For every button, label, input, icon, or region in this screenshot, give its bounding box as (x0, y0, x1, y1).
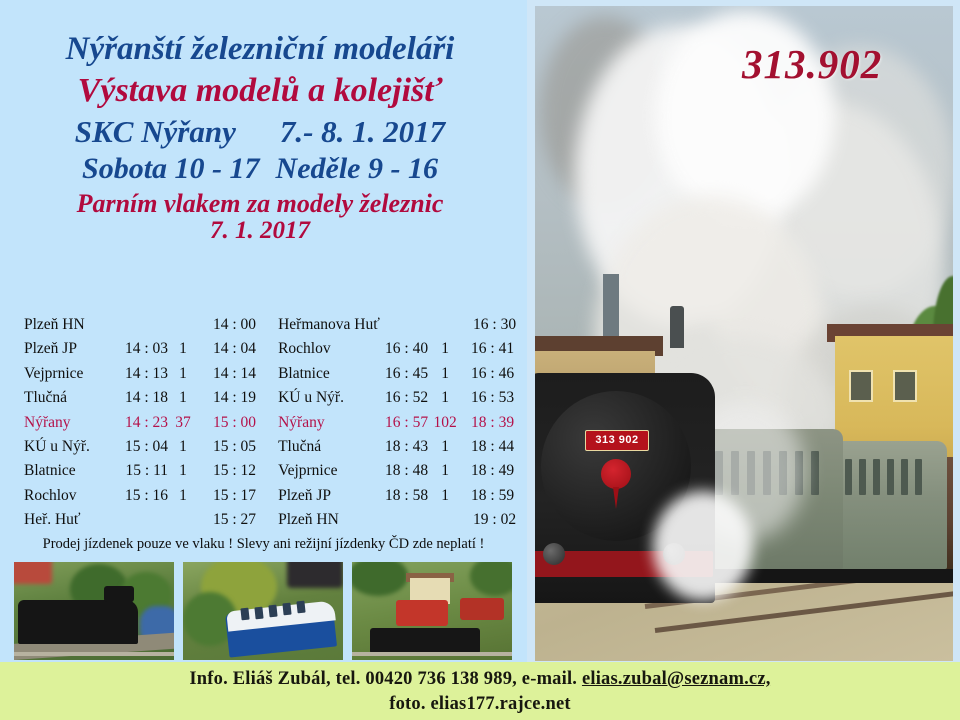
departure-time: 16 : 53 (462, 389, 514, 407)
station-name: Nýřany (24, 414, 110, 432)
arrival-time: 15 : 16 (110, 487, 168, 505)
departure-time: 19 : 02 (374, 511, 516, 529)
station-name: Nýřany (278, 414, 374, 432)
arrival-time: 15 : 11 (110, 462, 168, 480)
timetable-row: Rochlov16 : 40116 : 41 (278, 340, 527, 364)
stop-minutes: 1 (168, 365, 198, 383)
departure-time: 18 : 49 (462, 462, 514, 480)
model-photo-2 (183, 562, 343, 660)
model-steam-locomotive (370, 628, 480, 654)
coach (837, 441, 947, 569)
stop-minutes: 1 (428, 389, 462, 407)
station-name: Plzeň JP (24, 340, 110, 358)
contact-footer: Info. Eliáš Zubál, tel. 00420 736 138 98… (0, 662, 960, 720)
ticket-notice: Prodej jízdenek pouze ve vlaku ! Slevy a… (0, 536, 527, 553)
subtitle: Výstava modelů a kolejišť (0, 73, 520, 109)
arrival-time: 14 : 23 (110, 414, 168, 432)
model-photo-3 (352, 562, 512, 660)
stop-minutes: 102 (428, 414, 462, 432)
backdrop (287, 562, 343, 588)
station-name: Heř. Huť (24, 511, 110, 529)
departure-time: 15 : 27 (110, 511, 256, 529)
date-label: 7.- 8. 1. 2017 (280, 114, 445, 149)
roof (14, 562, 52, 584)
timetable-row: Heř. Huť15 : 27 (24, 511, 270, 535)
arrival-time: 16 : 40 (374, 340, 428, 358)
arrival-time: 15 : 04 (110, 438, 168, 456)
timetable-row: KÚ u Nýř.16 : 52116 : 53 (278, 389, 527, 413)
stop-minutes: 1 (168, 340, 198, 358)
station-name: KÚ u Nýř. (278, 389, 374, 407)
arrival-time: 14 : 03 (110, 340, 168, 358)
station-name: Tlučná (24, 389, 110, 407)
timetable-row: Plzeň JP14 : 03114 : 04 (24, 340, 270, 364)
departure-time: 15 : 17 (198, 487, 256, 505)
coach-window (859, 459, 866, 495)
stop-minutes: 1 (168, 438, 198, 456)
venue-label: SKC Nýřany (75, 114, 236, 149)
stop-minutes: 1 (168, 462, 198, 480)
model-diesel-locomotive (396, 600, 448, 626)
stop-minutes: 1 (428, 365, 462, 383)
departure-time: 14 : 00 (110, 316, 256, 334)
coach-window (901, 459, 908, 495)
timetable-row: Blatnice16 : 45116 : 46 (278, 365, 527, 389)
coach-window (811, 451, 819, 495)
timetable-row: Tlučná18 : 43118 : 44 (278, 438, 527, 462)
venue-and-date: SKC Nýřany7.- 8. 1. 2017 (0, 116, 520, 149)
model-photo-strip (14, 562, 512, 660)
arrival-time: 16 : 57 (374, 414, 428, 432)
station-name: Plzeň HN (24, 316, 110, 334)
station-name: Plzeň JP (278, 487, 374, 505)
timetable-row: Rochlov15 : 16115 : 17 (24, 487, 270, 511)
departure-time: 18 : 59 (462, 487, 514, 505)
station-name: Vejprnice (278, 462, 374, 480)
model-diesel-locomotive (460, 598, 504, 620)
timetable-row: Plzeň HN14 : 00 (24, 316, 270, 340)
window (893, 370, 917, 402)
poster-canvas: 313 902 313.902 Nýřanští železniční mode… (0, 0, 960, 720)
stop-minutes: 1 (428, 487, 462, 505)
arrival-time: 18 : 58 (374, 487, 428, 505)
window (849, 370, 873, 402)
arrival-time: 14 : 13 (110, 365, 168, 383)
timetable-row: Heřmanova Huť16 : 30 (278, 316, 527, 340)
photo-image: 313 902 (535, 6, 953, 661)
timetable-column-return: Heřmanova Huť16 : 30Rochlov16 : 40116 : … (270, 316, 527, 536)
opening-hours: Sobota 10 - 17Neděle 9 - 16 (0, 153, 520, 185)
steam-trip-title: Parním vlakem za modely železnic (0, 190, 520, 218)
saturday-hours: Sobota 10 - 17 (82, 152, 260, 185)
departure-time: 18 : 39 (462, 414, 514, 432)
model-steam-locomotive (18, 600, 138, 644)
departure-time: 18 : 44 (462, 438, 514, 456)
steam-jet (653, 491, 753, 601)
departure-time: 16 : 30 (374, 316, 516, 334)
timetable-row: Plzeň HN19 : 02 (278, 511, 527, 535)
coach-window (873, 459, 880, 495)
locomotive-number-plate: 313 902 (585, 430, 649, 451)
timetable-column-outbound: Plzeň HN14 : 00Plzeň JP14 : 03114 : 04Ve… (0, 316, 270, 536)
photo-credit-line[interactable]: foto. elias177.rajce.net (0, 692, 960, 717)
steam-trip-date: 7. 1. 2017 (0, 218, 520, 245)
station-name: Blatnice (278, 365, 374, 383)
departure-time: 15 : 05 (198, 438, 256, 456)
email-link[interactable]: elias.zubal@seznam.cz, (582, 669, 771, 689)
timetable-row: Nýřany14 : 233715 : 00 (24, 414, 270, 438)
station-name: Vejprnice (24, 365, 110, 383)
departure-time: 16 : 46 (462, 365, 514, 383)
timetable-row: Nýřany16 : 5710218 : 39 (278, 414, 527, 438)
smokebox-handle (601, 459, 631, 489)
timetable-row: KÚ u Nýř.15 : 04115 : 05 (24, 438, 270, 462)
departure-time: 16 : 41 (462, 340, 514, 358)
poster-headings: Nýřanští železniční modeláři Výstava mod… (0, 32, 520, 245)
chimney (603, 274, 619, 344)
timetable-row: Blatnice15 : 11115 : 12 (24, 462, 270, 486)
timetable: Plzeň HN14 : 00Plzeň JP14 : 03114 : 04Ve… (0, 316, 527, 536)
contact-info-text: Info. Eliáš Zubál, tel. 00420 736 138 98… (189, 669, 582, 689)
station-name: Blatnice (24, 462, 110, 480)
arrival-time: 18 : 48 (374, 462, 428, 480)
sunday-hours: Neděle 9 - 16 (276, 152, 438, 185)
coach-window (845, 459, 852, 495)
timetable-row: Vejprnice14 : 13114 : 14 (24, 365, 270, 389)
chimney (670, 306, 684, 348)
station-name: KÚ u Nýř. (24, 438, 110, 456)
arrival-time: 16 : 45 (374, 365, 428, 383)
model-photo-1 (14, 562, 174, 660)
arrival-time: 18 : 43 (374, 438, 428, 456)
departure-time: 14 : 04 (198, 340, 256, 358)
station-name: Plzeň HN (278, 511, 374, 529)
stop-minutes: 1 (168, 487, 198, 505)
arrival-time: 16 : 52 (374, 389, 428, 407)
departure-time: 15 : 00 (198, 414, 256, 432)
station-name: Rochlov (24, 487, 110, 505)
stop-minutes: 1 (428, 340, 462, 358)
coach-window (915, 459, 922, 495)
stop-minutes: 1 (428, 462, 462, 480)
page-title: Nýřanští železniční modeláři (0, 32, 520, 67)
station-name: Tlučná (278, 438, 374, 456)
contact-line-1: Info. Eliáš Zubál, tel. 00420 736 138 98… (0, 667, 960, 692)
main-locomotive-photo: 313 902 (527, 0, 960, 665)
stop-minutes: 1 (168, 389, 198, 407)
timetable-row: Tlučná14 : 18114 : 19 (24, 389, 270, 413)
timetable-row: Plzeň JP18 : 58118 : 59 (278, 487, 527, 511)
station-name: Rochlov (278, 340, 374, 358)
station-name: Heřmanova Huť (278, 316, 374, 334)
departure-time: 15 : 12 (198, 462, 256, 480)
departure-time: 14 : 19 (198, 389, 256, 407)
arrival-time: 14 : 18 (110, 389, 168, 407)
stop-minutes: 37 (168, 414, 198, 432)
timetable-row: Vejprnice18 : 48118 : 49 (278, 462, 527, 486)
stop-minutes: 1 (428, 438, 462, 456)
coach-window (887, 459, 894, 495)
locomotive-number-title: 313.902 (742, 40, 882, 88)
buffer (543, 543, 565, 565)
departure-time: 14 : 14 (198, 365, 256, 383)
